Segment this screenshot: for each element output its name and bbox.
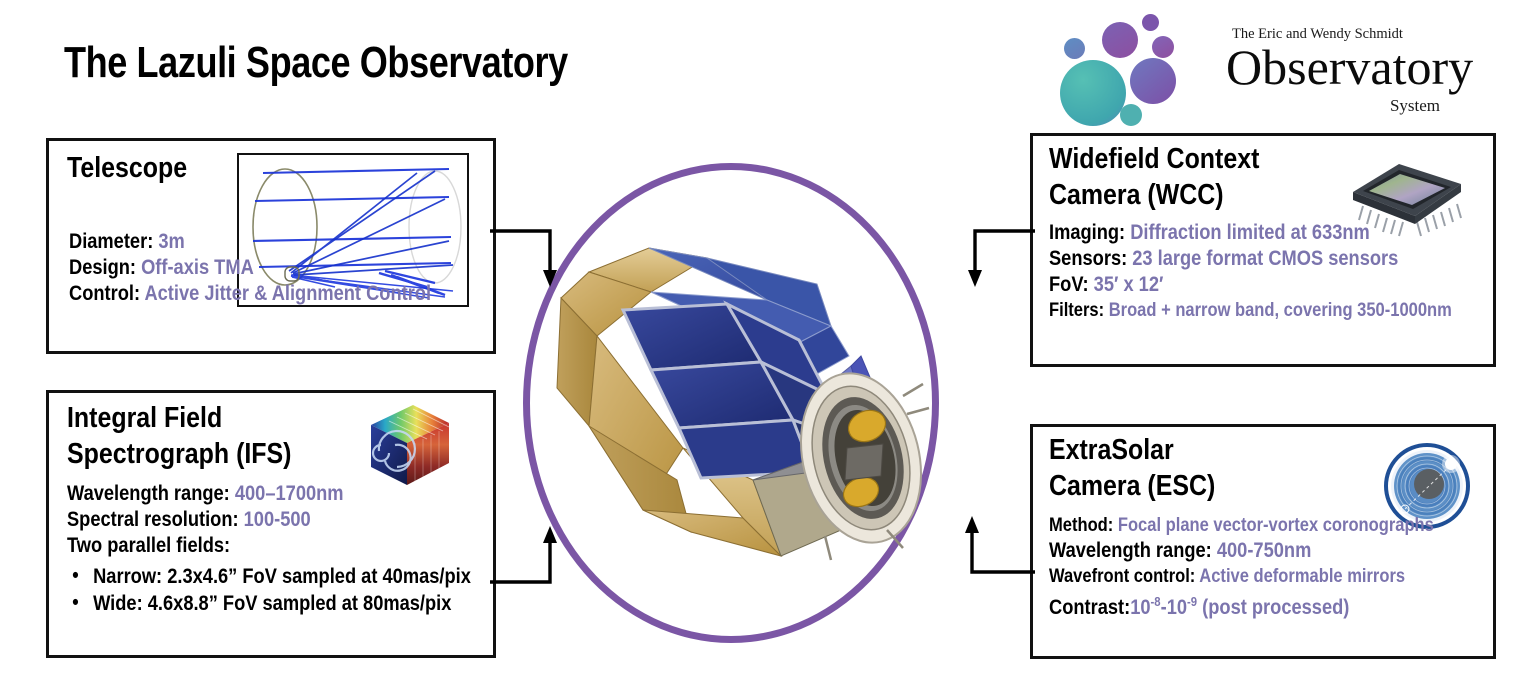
panel-wcc-title-line1: Widefield Context (1049, 144, 1259, 175)
logo-bubble-tiny-top (1142, 14, 1159, 31)
esc-contrast-base2: -10 (1161, 596, 1187, 619)
spectral-datacube-icon (357, 403, 451, 489)
panel-ifs[interactable]: Integral Field Spectrograph (IFS) (46, 390, 496, 658)
ifs-field-wide: Wide: 4.6x8.8” FoV sampled at 80mas/pix (67, 590, 471, 617)
panel-telescope-title: Telescope (67, 153, 187, 184)
ifs-wavelength-label: Wavelength range: (67, 482, 230, 505)
logo-bubble-bottom-teal (1120, 104, 1142, 126)
ifs-wavelength-value: 400–1700nm (235, 482, 344, 505)
telescope-row-design: Design: Off-axis TMA (69, 255, 431, 281)
panel-ifs-title-line2: Spectrograph (IFS) (67, 439, 291, 470)
esc-contrast-label: Contrast: (1049, 596, 1130, 619)
esc-method-value: Focal plane vector-vortex coronographs (1118, 515, 1434, 536)
wcc-imaging-value: Diffraction limited at 633nm (1130, 221, 1370, 244)
wcc-filters-label: Filters: (1049, 300, 1104, 321)
telescope-design-label: Design: (69, 256, 136, 279)
telescope-row-diameter: Diameter: 3m (69, 229, 431, 255)
wcc-row-sensors: Sensors: 23 large format CMOS sensors (1049, 246, 1452, 272)
wcc-sensors-label: Sensors: (1049, 247, 1127, 270)
esc-wavelength-label: Wavelength range: (1049, 539, 1212, 562)
esc-wavefront-value: Active deformable mirrors (1199, 566, 1405, 587)
esc-wavelength-value: 400-750nm (1217, 539, 1311, 562)
telescope-control-label: Control: (69, 282, 140, 305)
panel-wcc-title-line2: Camera (WCC) (1049, 180, 1224, 211)
telescope-diameter-label: Diameter: (69, 230, 153, 253)
esc-method-label: Method: (1049, 515, 1113, 536)
connector-telescope-to-craft (490, 225, 600, 295)
esc-contrast-exp2: -9 (1187, 594, 1197, 609)
logo-bubble-tiny-right (1152, 36, 1174, 58)
panel-esc-title-line2: Camera (ESC) (1049, 471, 1215, 502)
logo-main-word: Observatory (1226, 38, 1473, 96)
logo-bubble-upper-purple (1102, 22, 1138, 58)
wcc-row-imaging: Imaging: Diffraction limited at 633nm (1049, 220, 1452, 246)
logo-sub-word: System (1390, 96, 1440, 116)
ifs-resolution-value: 100-500 (244, 508, 311, 531)
esc-row-wavefront: Wavefront control: Active deformable mir… (1049, 564, 1434, 589)
ifs-field-narrow: Narrow: 2.3x4.6” FoV sampled at 40mas/pi… (67, 563, 471, 590)
ifs-bullets-heading: Two parallel fields: (67, 533, 471, 559)
esc-contrast-base1: 10 (1130, 596, 1150, 619)
ifs-narrow-value: 2.3x4.6” FoV sampled at 40mas/pix (167, 565, 471, 588)
wcc-sensors-value: 23 large format CMOS sensors (1132, 247, 1398, 270)
ifs-wide-label: Wide: (93, 592, 143, 615)
connector-wcc-to-craft (955, 225, 1045, 295)
wcc-filters-value: Broad + narrow band, covering 350-1000nm (1109, 300, 1452, 321)
wcc-fov-value: 35′ x 12′ (1094, 273, 1164, 296)
ifs-row-wavelength: Wavelength range: 400–1700nm (67, 481, 471, 507)
page-title: The Lazuli Space Observatory (64, 38, 568, 88)
esc-row-wavelength: Wavelength range: 400-750nm (1049, 538, 1434, 564)
logo-bubble-small-blue (1064, 38, 1085, 59)
esc-row-contrast: Contrast:10-8-10-9 (post processed) (1049, 589, 1434, 621)
wcc-imaging-label: Imaging: (1049, 221, 1125, 244)
panel-telescope[interactable]: Telescope (46, 138, 496, 354)
ifs-wide-value: 4.6x8.8” FoV sampled at 80mas/pix (148, 592, 452, 615)
esc-wavefront-label: Wavefront control: (1049, 566, 1195, 587)
panel-ifs-title-line1: Integral Field (67, 403, 222, 434)
wcc-row-filters: Filters: Broad + narrow band, covering 3… (1049, 298, 1452, 323)
telescope-diameter-value: 3m (158, 230, 184, 253)
logo-bubble-medium-purple (1130, 58, 1176, 104)
logo-wordmark: The Eric and Wendy Schmidt Observatory S… (1226, 20, 1462, 124)
wcc-fov-label: FoV: (1049, 273, 1089, 296)
panel-esc[interactable]: ExtraSolar Camera (ESC) Method: Focal (1030, 424, 1496, 659)
ifs-row-resolution: Spectral resolution: 100-500 (67, 507, 471, 533)
connector-esc-to-craft (950, 510, 1040, 580)
telescope-row-control: Control: Active Jitter & Alignment Contr… (69, 281, 431, 307)
telescope-control-value: Active Jitter & Alignment Control (144, 282, 431, 305)
esc-contrast-exp1: -8 (1151, 594, 1161, 609)
connector-ifs-to-craft (490, 520, 600, 590)
panel-esc-title-line1: ExtraSolar (1049, 435, 1174, 466)
panel-wcc[interactable]: Widefield Context Camera (WCC) (1030, 133, 1496, 367)
telescope-design-value: Off-axis TMA (141, 256, 254, 279)
wcc-row-fov: FoV: 35′ x 12′ (1049, 272, 1452, 298)
logo-bubble-large-teal (1060, 60, 1126, 126)
esc-row-method: Method: Focal plane vector-vortex corono… (1049, 513, 1434, 538)
ifs-resolution-label: Spectral resolution: (67, 508, 239, 531)
observatory-logo: The Eric and Wendy Schmidt Observatory S… (1058, 12, 1458, 124)
ifs-field-list: Narrow: 2.3x4.6” FoV sampled at 40mas/pi… (67, 563, 531, 617)
esc-contrast-post: (post processed) (1197, 596, 1349, 619)
ifs-narrow-label: Narrow: (93, 565, 162, 588)
